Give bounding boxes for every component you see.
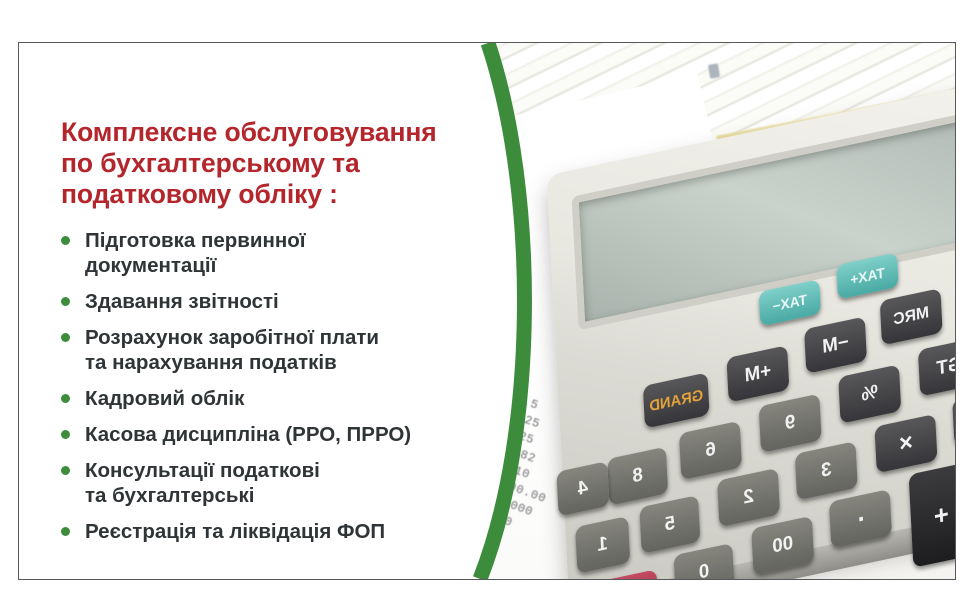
bullet-dot-icon xyxy=(61,394,70,403)
calculator-key-m-minus: −M xyxy=(804,316,867,373)
list-item-label: Здавання звітності xyxy=(85,290,279,313)
calculator-key-8: 8 xyxy=(607,447,668,506)
calculator-key-percent: % xyxy=(838,364,901,423)
calculator-key-4: 4 xyxy=(556,461,609,516)
calculator-key-gt: GT xyxy=(918,337,955,396)
list-item-label: Реєстрація та ліквідація ФОП xyxy=(85,520,385,543)
calculator-key-5: 5 xyxy=(639,495,700,554)
list-item: Розрахунок заробітної плати та нарахуван… xyxy=(57,325,487,375)
calculator-key-3: 3 xyxy=(795,441,858,500)
list-item: Консультації податкові та бухгалтерські xyxy=(57,458,487,508)
list-item: Здавання звітності xyxy=(57,289,487,314)
calculator-key-0: 0 xyxy=(673,543,734,579)
text-panel: Комплексне обслуговування по бухгалтерсь… xyxy=(19,43,499,579)
bullet-dot-icon xyxy=(61,333,70,342)
bullet-dot-icon xyxy=(61,466,70,475)
calculator-key-ac: AC xyxy=(602,569,659,579)
services-list: Підготовка первинної документації Здаван… xyxy=(57,228,487,555)
list-item: Касова дисципліна (РРО, ПРРО) xyxy=(57,422,487,447)
calculator-key-6: 6 xyxy=(679,421,742,480)
list-item: Підготовка первинної документації xyxy=(57,228,487,278)
promo-banner: 68,620. 87,785,712 84,A5d,1 Pd,081,628.4… xyxy=(18,42,956,580)
calculator-key-plus: + xyxy=(909,462,955,568)
list-item-label: Кадровий облік xyxy=(85,387,244,410)
calculator-key-grand: GRAND xyxy=(643,372,710,428)
bullet-dot-icon xyxy=(61,297,70,306)
list-item-label: Розрахунок заробітної плати та нарахуван… xyxy=(85,326,379,374)
calculator-key-multiply: × xyxy=(874,414,937,473)
calculator-key-9: 9 xyxy=(759,394,822,453)
page-title: Комплексне обслуговування по бухгалтерсь… xyxy=(61,117,481,210)
calculator-key-2: 2 xyxy=(717,468,780,527)
bullet-dot-icon xyxy=(61,527,70,536)
list-item: Кадровий облік xyxy=(57,386,487,411)
calculator-key-mrc: MRC xyxy=(880,288,943,345)
list-item-label: Підготовка первинної документації xyxy=(85,229,306,277)
calculator-key-divide: ÷ xyxy=(952,387,955,446)
list-item: Реєстрація та ліквідація ФОП xyxy=(57,519,487,544)
list-item-label: Касова дисципліна (РРО, ПРРО) xyxy=(85,423,411,446)
calculator-key-m-plus: +M xyxy=(726,345,789,402)
calculator-key-1: 1 xyxy=(575,516,630,574)
list-item-label: Консультації податкові та бухгалтерські xyxy=(85,459,320,507)
bullet-dot-icon xyxy=(61,236,70,245)
bullet-dot-icon xyxy=(61,430,70,439)
